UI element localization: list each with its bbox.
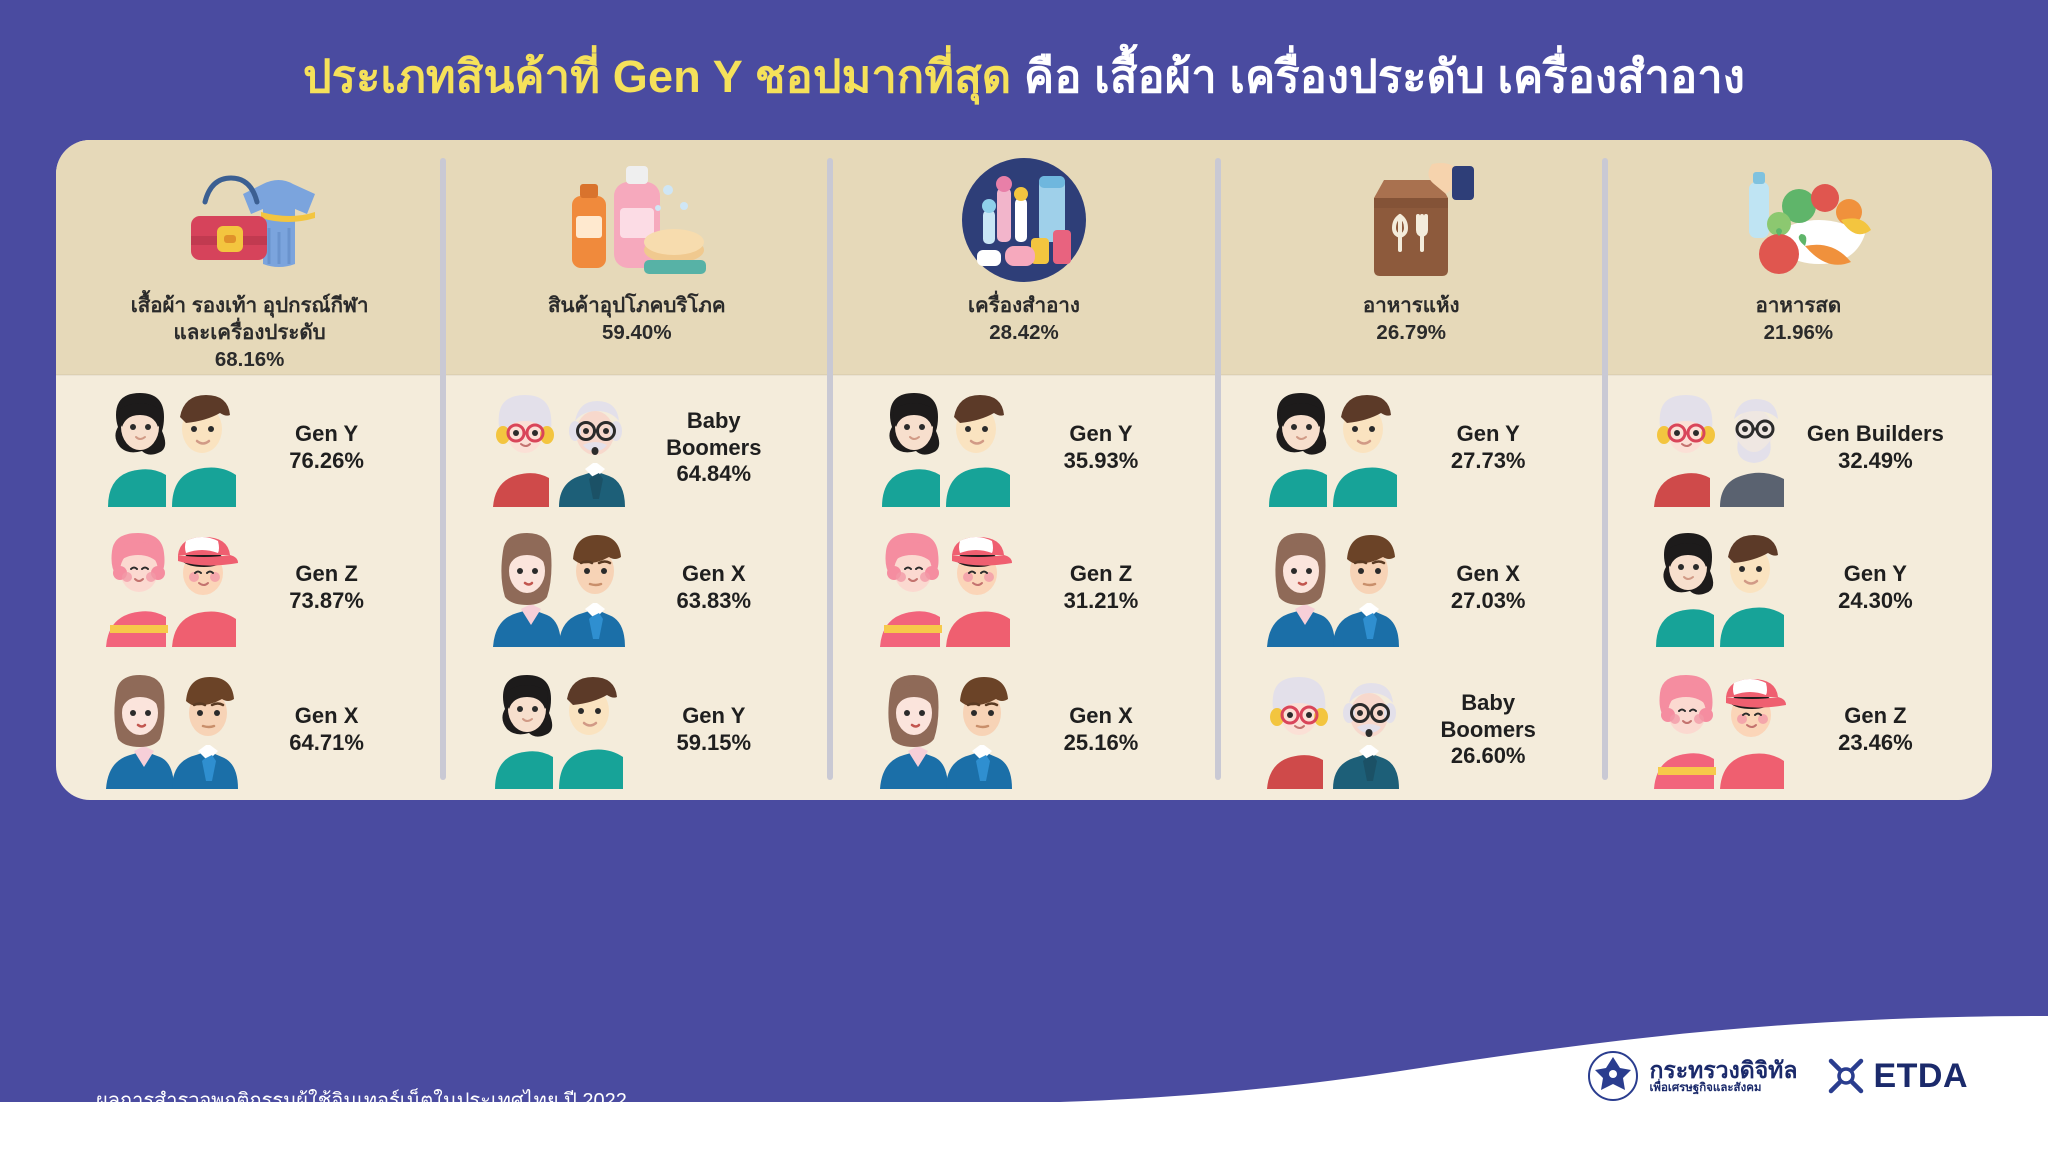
- generation-name: Boomers: [1413, 717, 1563, 744]
- generation-row: Gen Y76.26%: [56, 377, 443, 519]
- category-header: เครื่องสำอาง28.42%: [830, 140, 1217, 375]
- category-column: สินค้าอุปโภคบริโภค59.40% BabyBoomers64.8…: [443, 140, 830, 800]
- generation-list: Gen Y76.26% Gen Z73.87% Gen X64.71%: [56, 375, 443, 800]
- generation-text: Gen Y76.26%: [252, 421, 402, 475]
- category-label: อาหารสด21.96%: [1756, 292, 1842, 346]
- generation-row: Gen X25.16%: [830, 659, 1217, 801]
- generation-list: Gen Y27.73% Gen X27.03%: [1218, 375, 1605, 800]
- generation-row: Gen Builders32.49%: [1605, 377, 1992, 519]
- consumer-goods-icon: [552, 154, 722, 286]
- generation-name: Gen Y: [1413, 421, 1563, 448]
- avatar: [485, 671, 625, 789]
- category-value: 26.79%: [1363, 319, 1460, 346]
- generation-text: Gen X63.83%: [639, 561, 789, 615]
- gen-y-avatar: [1646, 529, 1786, 647]
- avatar: [872, 671, 1012, 789]
- generation-name: Gen X: [1413, 561, 1563, 588]
- generation-row: BabyBoomers64.84%: [443, 377, 830, 519]
- generation-value: 64.84%: [639, 461, 789, 488]
- generation-name: Gen Y: [252, 421, 402, 448]
- clothes-bag-icon: [165, 154, 335, 286]
- ministry-text: กระทรวงดิจิทัล เพื่อเศรษฐกิจและสังคม: [1649, 1058, 1797, 1094]
- gen-y-avatar: [98, 389, 238, 507]
- category-header: สินค้าอุปโภคบริโภค59.40%: [443, 140, 830, 375]
- ministry-line2: เพื่อเศรษฐกิจและสังคม: [1649, 1082, 1797, 1094]
- generation-text: Gen Y24.30%: [1800, 561, 1950, 615]
- generation-name: Gen X: [639, 561, 789, 588]
- generation-name: Baby: [639, 408, 789, 435]
- generation-text: Gen X27.03%: [1413, 561, 1563, 615]
- generation-name: Boomers: [639, 435, 789, 462]
- generation-name: Gen Builders: [1800, 421, 1950, 448]
- avatar: [872, 529, 1012, 647]
- category-icon-wrap: [1713, 154, 1883, 286]
- generation-row: Gen Z73.87%: [56, 517, 443, 659]
- generation-list: Gen Y35.93% Gen Z31.21% Gen X25.16%: [830, 375, 1217, 800]
- gen-y-avatar: [872, 389, 1012, 507]
- etda-logo: ETDA: [1825, 1055, 1968, 1097]
- category-column: อาหารสด21.96% Gen Builders32.49% Gen Y24…: [1605, 140, 1992, 800]
- generation-name: Gen Y: [1026, 421, 1176, 448]
- gen-z-avatar: [872, 529, 1012, 647]
- dry-food-bag-icon: [1326, 154, 1496, 286]
- gen-z-avatar: [1646, 671, 1786, 789]
- generation-row: BabyBoomers26.60%: [1218, 659, 1605, 801]
- category-icon-wrap: [939, 154, 1109, 286]
- generation-text: BabyBoomers64.84%: [639, 408, 789, 488]
- category-header: อาหารสด21.96%: [1605, 140, 1992, 375]
- generation-row: Gen Y59.15%: [443, 659, 830, 801]
- avatar: [1646, 671, 1786, 789]
- garuda-emblem-icon: [1587, 1048, 1639, 1104]
- category-column: เครื่องสำอาง28.42% Gen Y35.93% Gen Z31.2…: [830, 140, 1217, 800]
- category-icon-wrap: [1326, 154, 1496, 286]
- generation-text: Gen X64.71%: [252, 703, 402, 757]
- generation-text: Gen Z31.21%: [1026, 561, 1176, 615]
- generation-name: Gen Z: [1800, 703, 1950, 730]
- ministry-line1: กระทรวงดิจิทัล: [1649, 1058, 1797, 1082]
- gen-x-avatar: [98, 671, 238, 789]
- etda-mark-icon: [1825, 1055, 1867, 1097]
- category-column: อาหารแห้ง26.79% Gen Y27.73% Gen X27.03%: [1218, 140, 1605, 800]
- generation-list: BabyBoomers64.84% Gen X63.83% Gen Y59.15…: [443, 375, 830, 800]
- avatar: [485, 389, 625, 507]
- baby-boomers-avatar: [485, 389, 625, 507]
- category-label-line: อาหารแห้ง: [1363, 292, 1460, 319]
- generation-row: Gen Y35.93%: [830, 377, 1217, 519]
- baby-boomers-avatar: [1259, 671, 1399, 789]
- category-label: เครื่องสำอาง28.42%: [968, 292, 1080, 346]
- generation-list: Gen Builders32.49% Gen Y24.30% Gen Z23.4…: [1605, 375, 1992, 800]
- category-label-line: และเครื่องประดับ: [131, 319, 369, 346]
- avatar: [1259, 529, 1399, 647]
- category-value: 28.42%: [968, 319, 1080, 346]
- generation-row: Gen Y27.73%: [1218, 377, 1605, 519]
- generation-value: 64.71%: [252, 730, 402, 757]
- generation-row: Gen X27.03%: [1218, 517, 1605, 659]
- footer-source-note: ผลการสำรวจพฤติกรรมผู้ใช้อินเทอร์เน็ตในปร…: [96, 1084, 627, 1116]
- avatar: [1259, 389, 1399, 507]
- generation-text: Gen Y59.15%: [639, 703, 789, 757]
- avatar: [485, 529, 625, 647]
- generation-value: 63.83%: [639, 588, 789, 615]
- category-value: 68.16%: [131, 346, 369, 373]
- avatar: [98, 389, 238, 507]
- page-title-highlight: ประเภทสินค้าที่ Gen Y ชอปมากที่สุด: [303, 51, 1011, 102]
- generation-value: 76.26%: [252, 448, 402, 475]
- generation-value: 27.73%: [1413, 448, 1563, 475]
- category-icon-wrap: [165, 154, 335, 286]
- gen-x-avatar: [485, 529, 625, 647]
- gen-builders-avatar: [1646, 389, 1786, 507]
- category-label-line: สินค้าอุปโภคบริโภค: [548, 292, 726, 319]
- category-header: อาหารแห้ง26.79%: [1218, 140, 1605, 375]
- category-value: 59.40%: [548, 319, 726, 346]
- generation-text: BabyBoomers26.60%: [1413, 690, 1563, 770]
- category-header: เสื้อผ้า รองเท้า อุปกรณ์กีฬาและเครื่องปร…: [56, 140, 443, 375]
- generation-row: Gen X64.71%: [56, 659, 443, 801]
- generation-name: Gen X: [1026, 703, 1176, 730]
- infographic-card: เสื้อผ้า รองเท้า อุปกรณ์กีฬาและเครื่องปร…: [56, 140, 1992, 800]
- cosmetics-icon: [939, 154, 1109, 286]
- avatar: [98, 671, 238, 789]
- page-title: ประเภทสินค้าที่ Gen Y ชอปมากที่สุด คือ เ…: [303, 54, 1745, 99]
- generation-text: Gen X25.16%: [1026, 703, 1176, 757]
- generation-text: Gen Y35.93%: [1026, 421, 1176, 475]
- brand-logos: กระทรวงดิจิทัล เพื่อเศรษฐกิจและสังคม ETD…: [1587, 1048, 1968, 1104]
- generation-value: 23.46%: [1800, 730, 1950, 757]
- generation-text: Gen Builders32.49%: [1800, 421, 1950, 475]
- fresh-food-icon: [1713, 154, 1883, 286]
- generation-value: 32.49%: [1800, 448, 1950, 475]
- generation-name: Gen X: [252, 703, 402, 730]
- page-title-rest: คือ เสื้อผ้า เครื่องประดับ เครื่องสำอาง: [1024, 51, 1745, 102]
- gen-z-avatar: [98, 529, 238, 647]
- title-bar: ประเภทสินค้าที่ Gen Y ชอปมากที่สุด คือ เ…: [0, 0, 2048, 152]
- category-label: อาหารแห้ง26.79%: [1363, 292, 1460, 346]
- generation-name: Gen Z: [252, 561, 402, 588]
- generation-row: Gen Z23.46%: [1605, 659, 1992, 801]
- category-label: สินค้าอุปโภคบริโภค59.40%: [548, 292, 726, 346]
- gen-x-avatar: [1259, 529, 1399, 647]
- gen-y-avatar: [485, 671, 625, 789]
- category-value: 21.96%: [1756, 319, 1842, 346]
- generation-value: 73.87%: [252, 588, 402, 615]
- generation-value: 35.93%: [1026, 448, 1176, 475]
- category-label: เสื้อผ้า รองเท้า อุปกรณ์กีฬาและเครื่องปร…: [131, 292, 369, 373]
- avatar: [1646, 389, 1786, 507]
- category-column: เสื้อผ้า รองเท้า อุปกรณ์กีฬาและเครื่องปร…: [56, 140, 443, 800]
- gen-y-avatar: [1259, 389, 1399, 507]
- generation-row: Gen Z31.21%: [830, 517, 1217, 659]
- generation-row: Gen Y24.30%: [1605, 517, 1992, 659]
- avatar: [98, 529, 238, 647]
- ministry-logo: กระทรวงดิจิทัล เพื่อเศรษฐกิจและสังคม: [1587, 1048, 1797, 1104]
- generation-row: Gen X63.83%: [443, 517, 830, 659]
- generation-value: 27.03%: [1413, 588, 1563, 615]
- avatar: [1259, 671, 1399, 789]
- generation-name: Gen Z: [1026, 561, 1176, 588]
- category-icon-wrap: [552, 154, 722, 286]
- category-label-line: เครื่องสำอาง: [968, 292, 1080, 319]
- generation-text: Gen Z73.87%: [252, 561, 402, 615]
- avatar: [1646, 529, 1786, 647]
- generation-value: 26.60%: [1413, 743, 1563, 770]
- generation-value: 24.30%: [1800, 588, 1950, 615]
- gen-x-avatar: [872, 671, 1012, 789]
- generation-text: Gen Z23.46%: [1800, 703, 1950, 757]
- category-label-line: อาหารสด: [1756, 292, 1842, 319]
- etda-label: ETDA: [1873, 1057, 1968, 1096]
- category-label-line: เสื้อผ้า รองเท้า อุปกรณ์กีฬา: [131, 292, 369, 319]
- generation-name: Baby: [1413, 690, 1563, 717]
- generation-text: Gen Y27.73%: [1413, 421, 1563, 475]
- generation-value: 59.15%: [639, 730, 789, 757]
- generation-name: Gen Y: [1800, 561, 1950, 588]
- generation-value: 31.21%: [1026, 588, 1176, 615]
- generation-value: 25.16%: [1026, 730, 1176, 757]
- avatar: [872, 389, 1012, 507]
- generation-name: Gen Y: [639, 703, 789, 730]
- category-grid: เสื้อผ้า รองเท้า อุปกรณ์กีฬาและเครื่องปร…: [56, 140, 1992, 800]
